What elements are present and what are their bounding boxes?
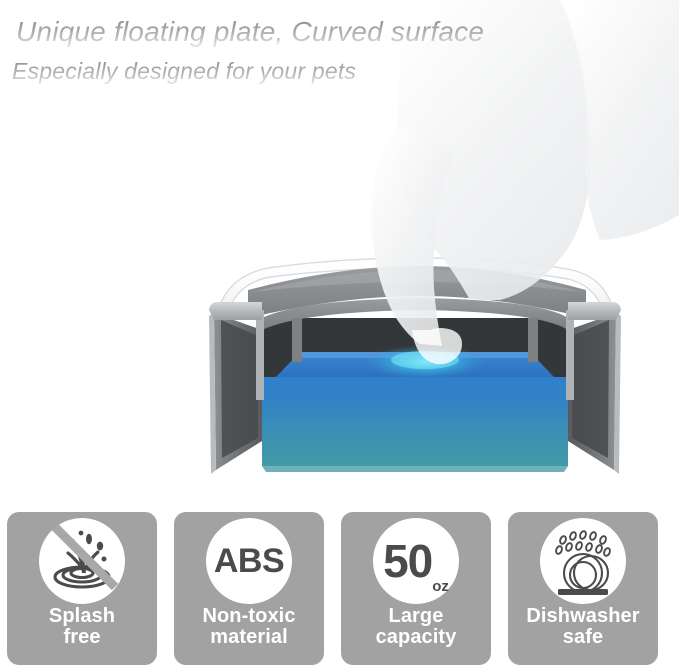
splash-free-icon: [42, 521, 122, 601]
capacity-value: 50: [383, 538, 432, 584]
badge-label-dishwasher-safe: Dishwasher safe: [522, 606, 643, 649]
water-base-edge: [262, 466, 568, 472]
capacity-icon-wrap: 50 oz: [373, 518, 459, 604]
badge-label-non-toxic: Non-toxic material: [198, 606, 299, 649]
inner-rim-left: [256, 310, 264, 400]
badge-dishwasher-safe[interactable]: Dishwasher safe: [508, 512, 658, 665]
abs-material-icon: ABS: [214, 544, 284, 578]
abs-material-icon-wrap: ABS: [206, 518, 292, 604]
badge-label-line2: safe: [563, 626, 603, 648]
badge-splash-free[interactable]: Splash free: [7, 512, 157, 665]
badge-label-line1: Dishwasher: [526, 605, 639, 627]
dishwasher-safe-icon: [543, 521, 623, 601]
bowl-right-wall-inner-shadow: [572, 320, 609, 458]
headline-secondary: Especially designed for your pets: [12, 58, 356, 85]
splash-free-icon-wrap: [39, 518, 125, 604]
product-feature-graphic: Unique floating plate, Curved surface Es…: [0, 0, 679, 672]
inner-rim-right: [566, 310, 574, 400]
badge-label-line1: Non-toxic: [202, 605, 295, 627]
badge-label-line1: Splash: [49, 605, 115, 627]
badge-large-capacity[interactable]: 50 oz Large capacity: [341, 512, 491, 665]
badge-label-line1: Large: [389, 605, 444, 627]
plate-support-right: [528, 318, 538, 362]
headline-primary: Unique floating plate, Curved surface: [16, 16, 484, 48]
bowl-left-wall-inner-shadow: [221, 320, 258, 458]
water-reservoir: [262, 377, 568, 466]
bowl-rim-right: [568, 302, 621, 320]
badge-label-line2: material: [210, 626, 288, 648]
headline-block: Unique floating plate, Curved surface Es…: [0, 0, 679, 100]
dishwasher-rack: [558, 589, 608, 595]
capacity-icon: 50 oz: [383, 538, 449, 584]
dishwasher-safe-icon-wrap: [540, 518, 626, 604]
badge-label-large-capacity: Large capacity: [372, 606, 461, 649]
badge-label-line2: free: [63, 626, 100, 648]
badge-label-splash-free: Splash free: [45, 606, 119, 649]
badge-label-line2: capacity: [376, 626, 457, 648]
plate-support-left: [292, 318, 302, 362]
badge-non-toxic[interactable]: ABS Non-toxic material: [174, 512, 324, 665]
feature-badge-row: Splash free ABS Non-toxic material 50 oz: [7, 512, 672, 665]
bowl-rim-left: [209, 302, 262, 320]
capacity-unit: oz: [432, 579, 449, 594]
